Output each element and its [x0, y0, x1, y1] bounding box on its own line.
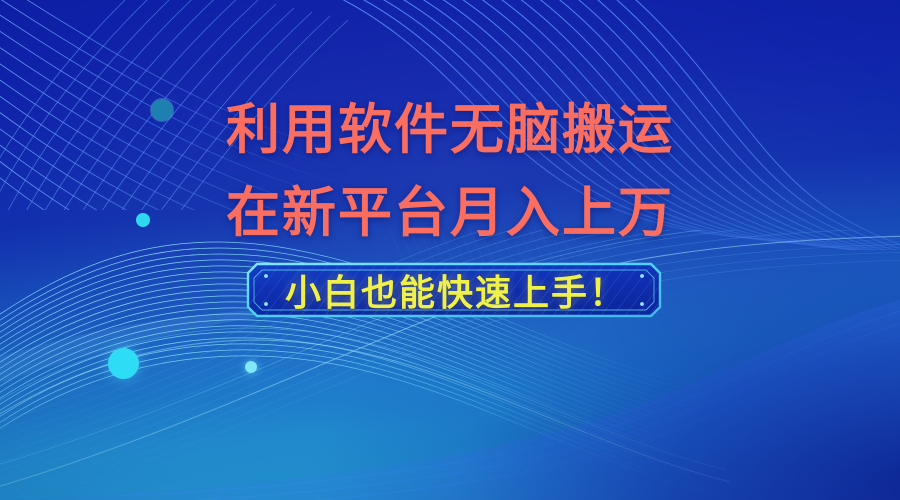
badge-label: 小白也能快速上手！	[245, 261, 663, 319]
banner-content: 利用软件无脑搬运 在新平台月入上万	[0, 0, 900, 500]
subheadline-badge: 小白也能快速上手！	[245, 261, 663, 319]
promo-banner: 利用软件无脑搬运 在新平台月入上万	[0, 0, 900, 500]
headline-line-1: 利用软件无脑搬运	[0, 101, 900, 159]
headline-line-2: 在新平台月入上万	[0, 184, 900, 242]
